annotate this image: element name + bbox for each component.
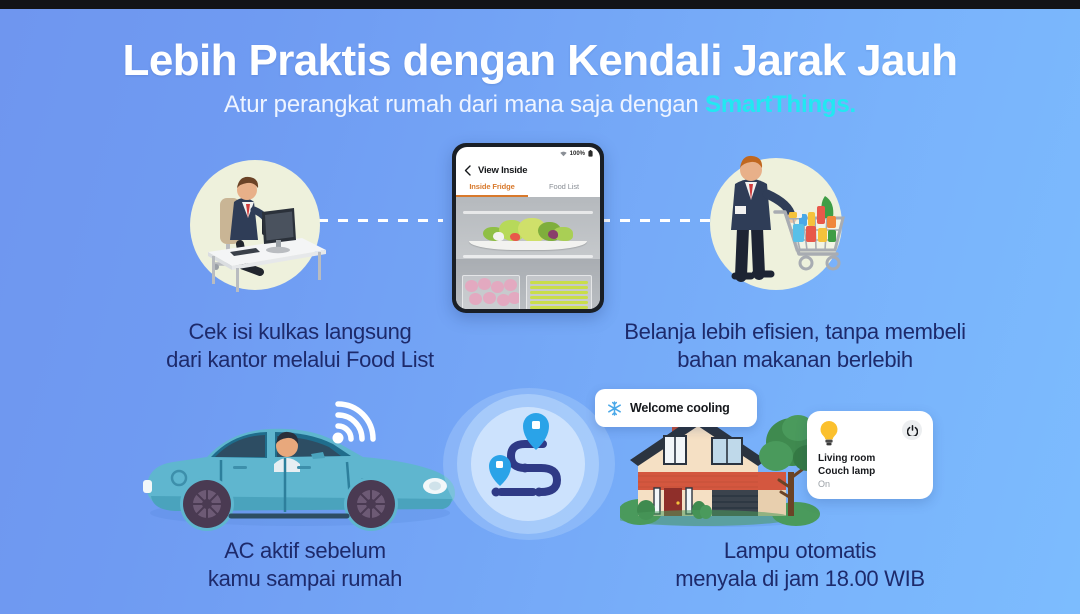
lamp-room-name: Living room: [818, 453, 922, 466]
caption-fridge-line1: Cek isi kulkas langsung: [60, 318, 540, 346]
caption-shopping: Belanja lebih efisien, tanpa membeli bah…: [550, 318, 1040, 373]
power-toggle-button[interactable]: [902, 420, 922, 440]
tab-food-list[interactable]: Food List: [528, 180, 600, 197]
tab-inside-fridge[interactable]: Inside Fridge: [456, 180, 528, 197]
battery-percent: 100%: [570, 151, 585, 157]
caption-fridge: Cek isi kulkas langsung dari kantor mela…: [60, 318, 540, 373]
infographic-canvas: Lebih Praktis dengan Kendali Jarak Jauh …: [0, 0, 1080, 614]
battery-icon: [588, 150, 593, 157]
caption-shopping-line1: Belanja lebih efisien, tanpa membeli: [550, 318, 1040, 346]
power-icon: [907, 425, 918, 436]
welcome-cooling-bubble[interactable]: Welcome cooling: [595, 389, 757, 427]
caption-shopping-line2: bahan makanan berlebih: [550, 346, 1040, 374]
phone-mockup[interactable]: 100% View Inside Inside Fridge Food List: [452, 143, 604, 313]
lamp-state: On: [818, 479, 922, 489]
wifi-signal-icon: [328, 398, 380, 446]
crisper-bin-onions: [462, 275, 520, 309]
route-navigation-graphic: [443, 388, 615, 540]
caption-lamp-line2: menyala di jam 18.00 WIB: [585, 565, 1015, 593]
top-black-bar: [0, 0, 1080, 9]
car-illustration: [135, 400, 455, 535]
lamp-device-card[interactable]: Living room Couch lamp On: [807, 411, 933, 499]
caption-ac: AC aktif sebelum kamu sampai rumah: [95, 537, 515, 592]
phone-screen: 100% View Inside Inside Fridge Food List: [456, 147, 600, 309]
caption-ac-line1: AC aktif sebelum: [95, 537, 515, 565]
page-title: Lebih Praktis dengan Kendali Jarak Jauh: [0, 36, 1080, 86]
shelf-glass-edge: [463, 211, 593, 214]
phone-tab-bar: Inside Fridge Food List: [456, 180, 600, 197]
page-subtitle: Atur perangkat rumah dari mana saja deng…: [0, 91, 1080, 119]
shelf-glass-edge-2: [463, 255, 593, 258]
connector-dashed-left: [318, 219, 443, 222]
caption-lamp-line1: Lampu otomatis: [585, 537, 1015, 565]
brand-name: SmartThings.: [705, 91, 856, 118]
phone-status-bar: 100%: [456, 147, 600, 160]
phone-screen-title: View Inside: [478, 165, 527, 176]
lightbulb-icon: [818, 420, 840, 446]
fridge-interior-photo: [456, 197, 600, 309]
caption-ac-line2: kamu sampai rumah: [95, 565, 515, 593]
lamp-device-name: Couch lamp: [818, 466, 922, 479]
caption-lamp: Lampu otomatis menyala di jam 18.00 WIB: [585, 537, 1015, 592]
phone-nav-bar: View Inside: [456, 160, 600, 180]
crisper-bin-greens: [526, 275, 592, 309]
wifi-icon: [560, 151, 567, 157]
cooling-label: Welcome cooling: [630, 401, 730, 415]
caption-fridge-line2: dari kantor melalui Food List: [60, 346, 540, 374]
office-scene-illustration: [190, 160, 330, 295]
connector-dashed-right: [600, 219, 718, 222]
chevron-left-icon[interactable]: [464, 165, 471, 176]
shopping-scene-illustration: [705, 150, 850, 295]
snowflake-icon: [607, 401, 622, 416]
subtitle-text: Atur perangkat rumah dari mana saja deng…: [224, 91, 705, 118]
map-pin-icon-2: [489, 455, 511, 486]
